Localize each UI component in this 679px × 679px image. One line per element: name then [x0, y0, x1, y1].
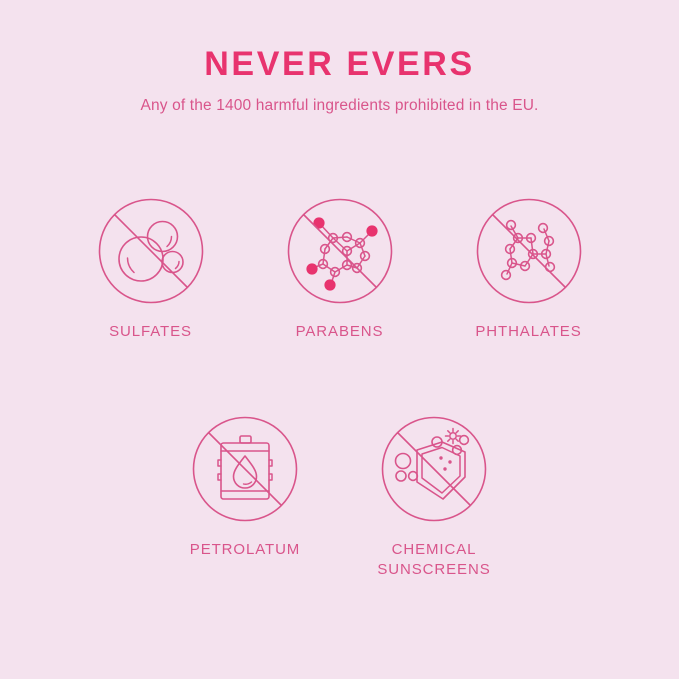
never-ever-item-chemical-sunscreens: CHEMICAL SUNSCREENS	[340, 414, 529, 580]
never-evers-grid: SULFATES	[0, 196, 679, 580]
page-subtitle: Any of the 1400 harmful ingredients proh…	[0, 84, 679, 117]
never-ever-item-petrolatum: PETROLATUM	[151, 414, 340, 560]
page-title: NEVER EVERS	[0, 44, 679, 84]
never-ever-item-phthalates: PHTHALATES	[434, 196, 623, 342]
never-evers-panel: NEVER EVERS Any of the 1400 harmful ingr…	[0, 0, 679, 679]
header: NEVER EVERS Any of the 1400 harmful ingr…	[0, 44, 679, 117]
never-ever-label: PARABENS	[296, 322, 384, 342]
never-evers-row-2: PETROLATUM	[0, 414, 679, 580]
never-ever-item-sulfates: SULFATES	[56, 196, 245, 342]
no-parabens-molecule-icon	[285, 196, 395, 306]
never-ever-label: PHTHALATES	[475, 322, 581, 342]
no-phthalates-molecule-icon	[474, 196, 584, 306]
no-petrolatum-oil-barrel-icon	[190, 414, 300, 524]
never-ever-label: PETROLATUM	[190, 540, 300, 560]
never-ever-item-parabens: PARABENS	[245, 196, 434, 342]
never-evers-row-1: SULFATES	[0, 196, 679, 342]
never-ever-label: CHEMICAL SUNSCREENS	[377, 540, 490, 580]
no-chemical-sunscreens-shield-icon	[379, 414, 489, 524]
no-sulfates-bubbles-icon	[96, 196, 206, 306]
never-ever-label: SULFATES	[109, 322, 192, 342]
